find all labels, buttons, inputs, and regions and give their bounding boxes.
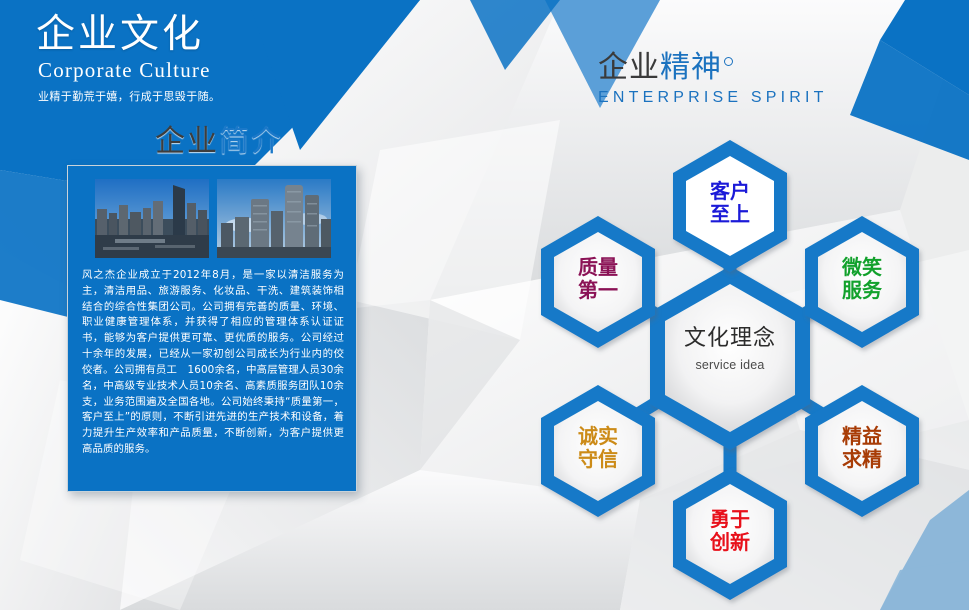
spirit-heading: 企业精神 ENTERPRISE SPIRIT: [598, 53, 828, 107]
spirit-heading-cn: 企业精神: [598, 53, 733, 83]
intro-heading: 企业简介: [155, 116, 283, 160]
hex-courage-innovate: [673, 468, 787, 600]
hex-smile-service: [805, 216, 919, 348]
intro-heading-dark: 企业: [155, 124, 219, 159]
hexagon-shapes: [490, 118, 969, 610]
spirit-heading-blue: 精神: [660, 50, 722, 85]
company-intro-text: 风之杰企业成立于2012年8月，是一家以清洁服务为主，清洁用品、旅游服务、化妆品…: [82, 268, 344, 458]
hex-excellence: [805, 385, 919, 517]
intro-heading-blue: 简介: [219, 124, 283, 159]
hex-integrity: [541, 385, 655, 517]
spirit-dot-icon: [724, 57, 733, 66]
culture-hexagon-diagram: 文化理念 service idea 客户 至上 微笑 服务 精益 求精 勇于 创…: [490, 118, 969, 610]
hex-center: [650, 266, 810, 450]
company-intro-card: 风之杰企业成立于2012年8月，是一家以清洁服务为主，清洁用品、旅游服务、化妆品…: [67, 165, 357, 492]
spirit-heading-dark: 企业: [598, 50, 660, 85]
skyscraper-photo: [217, 179, 331, 258]
hex-quality-first: [541, 216, 655, 348]
slide-canvas: 企业文化 Corporate Culture 业精于勤荒于嬉，行成于思毁于随。 …: [0, 0, 969, 610]
spirit-heading-en: ENTERPRISE SPIRIT: [598, 89, 828, 107]
photo-strip: [95, 179, 331, 258]
hex-customer-first: [673, 140, 787, 272]
city-skyline-photo: [95, 179, 209, 258]
